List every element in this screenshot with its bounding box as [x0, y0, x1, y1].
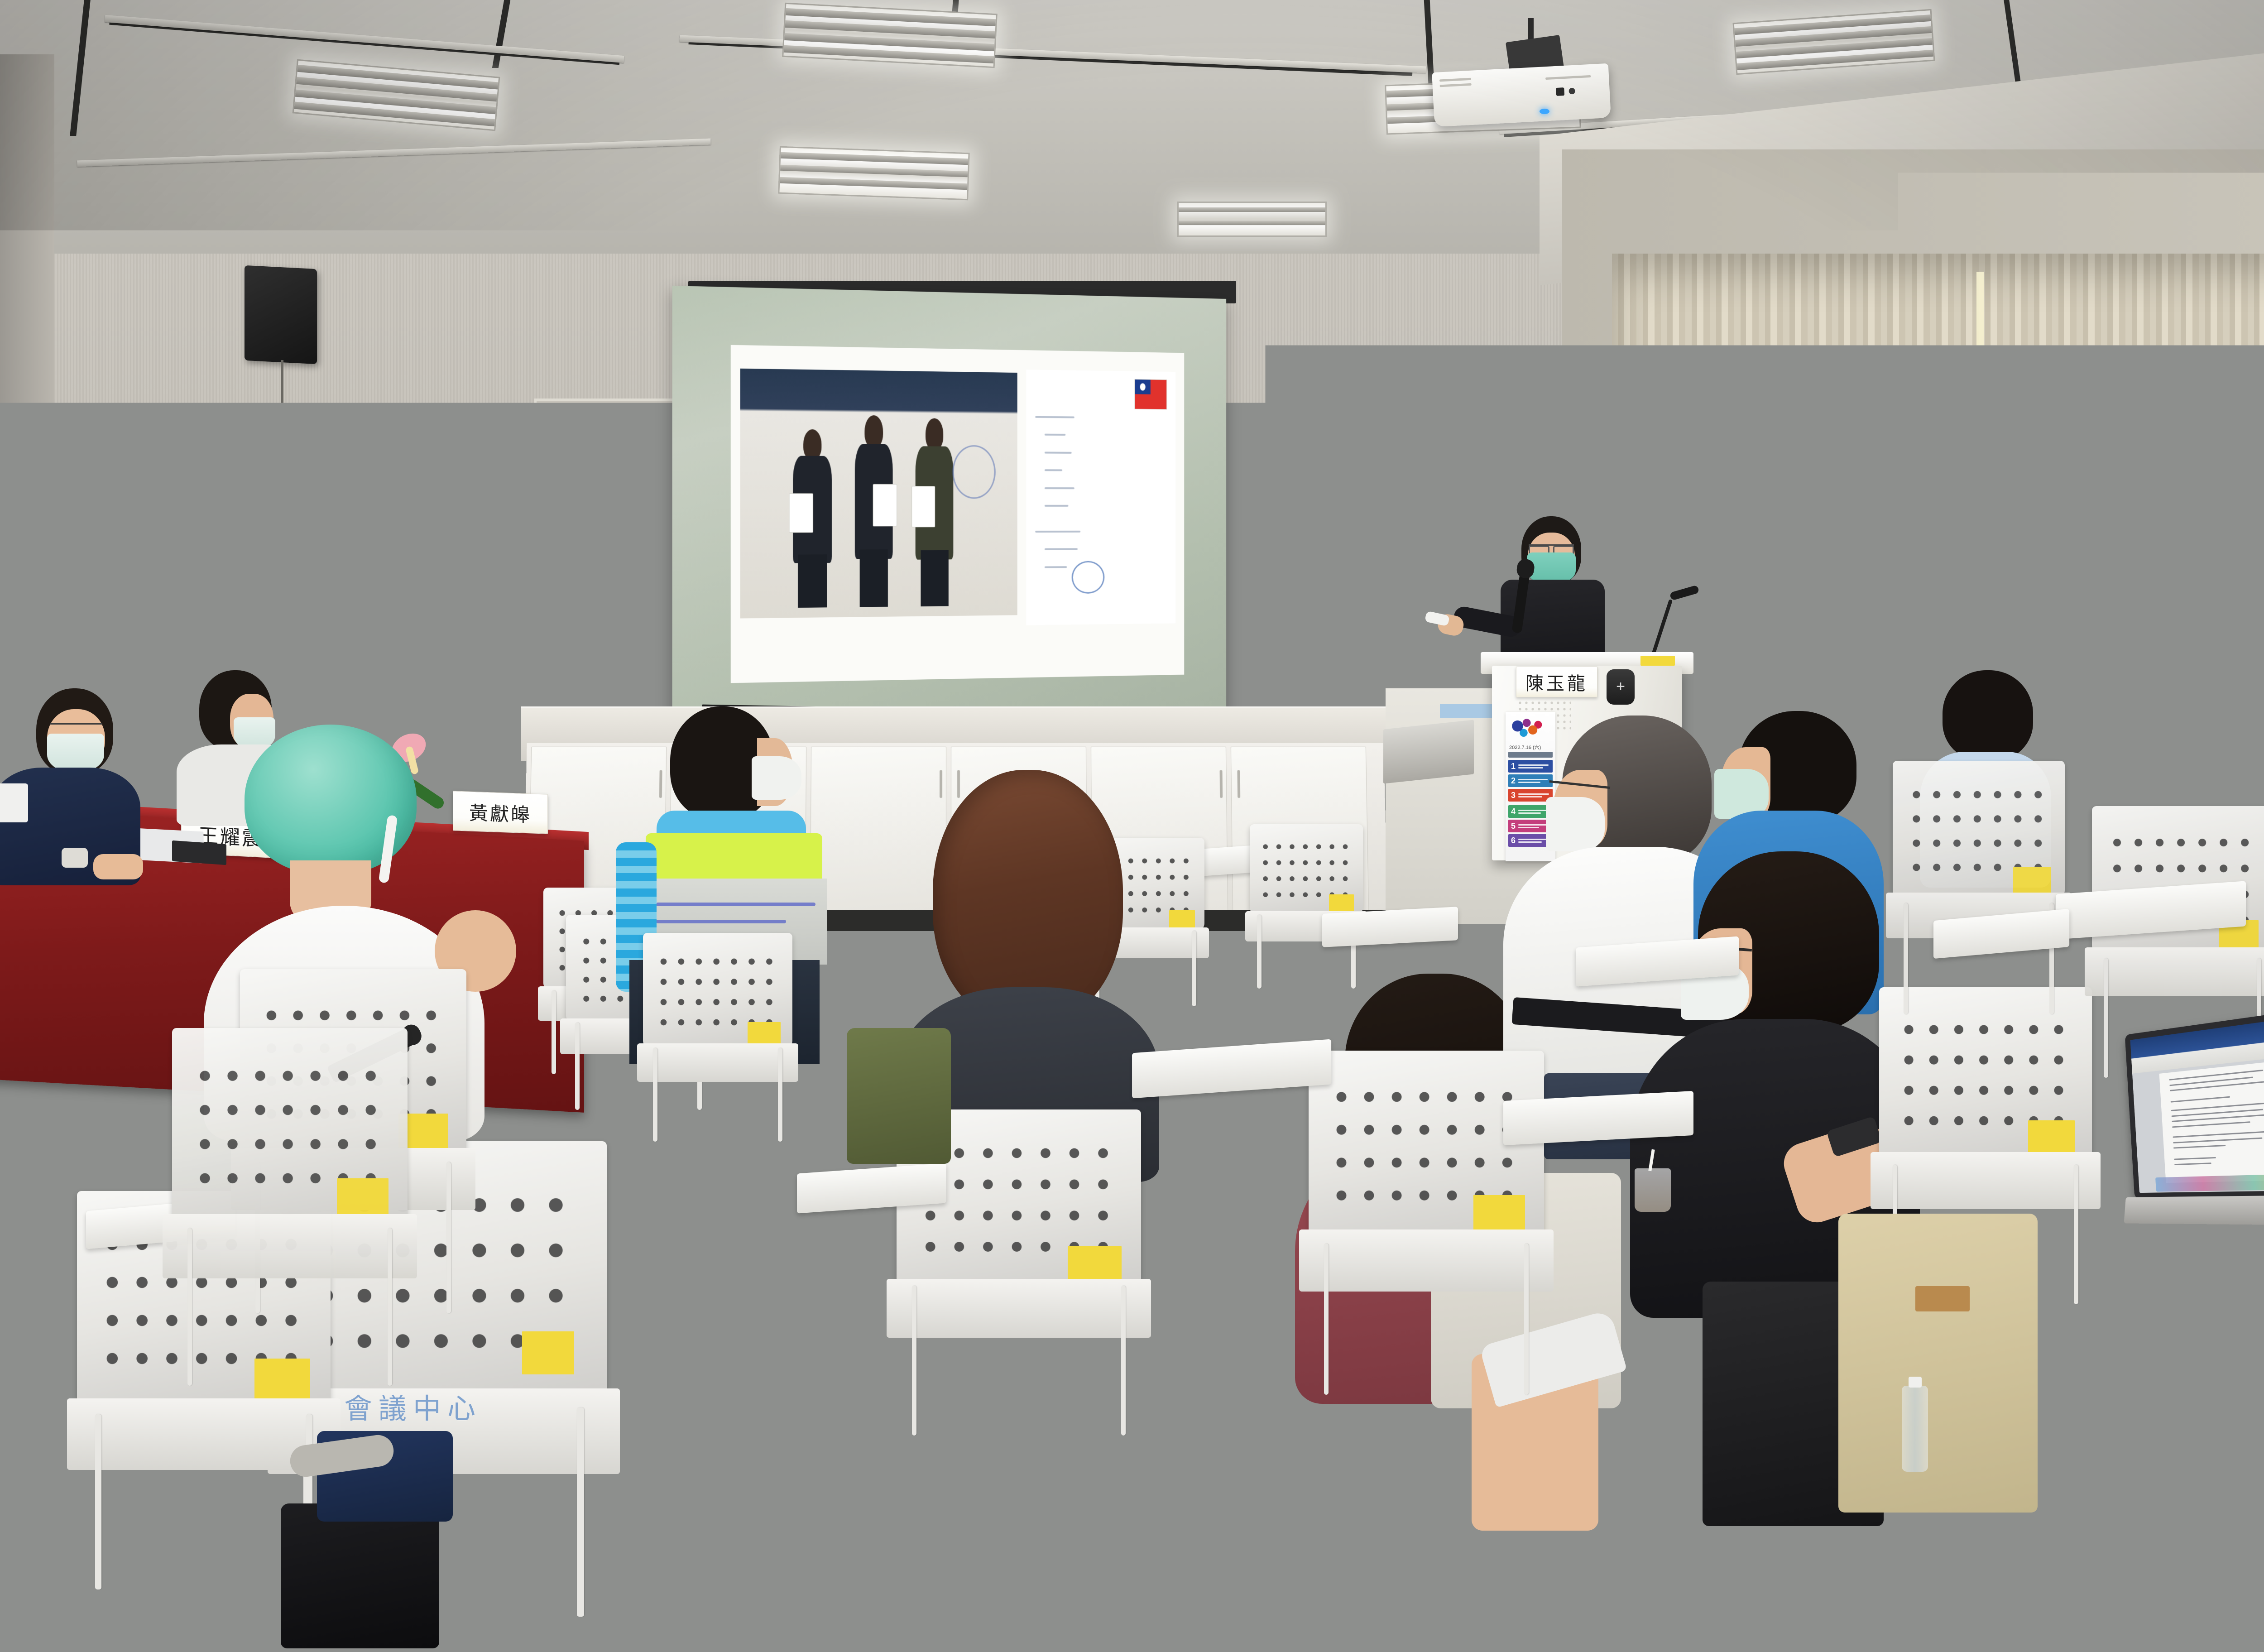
brand-label — [1263, 1336, 1331, 1367]
glasses-icon — [1529, 544, 1574, 552]
hand — [93, 854, 143, 879]
conference-room-scene: 王耀震 黃獻皞 2022.7.16 (六) — [0, 0, 2264, 1652]
shirt-number-graphic — [0, 783, 28, 822]
ceiling-light — [782, 3, 998, 68]
leather-patch — [1915, 1286, 1970, 1311]
vest-hi-vis-yellow — [646, 833, 822, 883]
chair-label-text: 會議中心 — [344, 1386, 534, 1404]
podium-nameplate-text: 陳玉龍 — [1525, 669, 1588, 695]
laptop-macbook[interactable] — [2125, 1007, 2264, 1199]
chair-tablet-arm — [1322, 907, 1458, 947]
official-seal — [1071, 561, 1104, 594]
drink-cup[interactable] — [1635, 1168, 1671, 1212]
hair — [1943, 670, 2033, 761]
chair-seat — [1871, 1152, 2101, 1209]
podium-nameplate: 陳玉龍 — [1516, 667, 1597, 697]
water-bottle[interactable] — [1902, 1386, 1928, 1472]
bluetooth-speaker[interactable]: + — [1607, 669, 1635, 705]
curly-hair — [933, 770, 1123, 1023]
wall-speaker-left — [245, 265, 317, 364]
asset-tag — [522, 1331, 574, 1374]
slide-photo-award-ceremony — [740, 369, 1017, 619]
projector-status-led — [1540, 109, 1549, 114]
chair-seat — [163, 1214, 417, 1278]
speaker-cable — [281, 360, 283, 573]
face-mask-strap — [1050, 1218, 1119, 1295]
green-bottle[interactable] — [2065, 1603, 2151, 1652]
chair-midground[interactable] — [172, 1028, 408, 1386]
slide-award-document — [1026, 370, 1175, 625]
seated-official-left — [9, 688, 145, 879]
bag-on-floor-left[interactable] — [281, 1503, 439, 1648]
ceiling-light — [778, 146, 969, 201]
chair-back-right-2[interactable] — [1893, 761, 2065, 1014]
podium-asset-tag — [1640, 656, 1675, 666]
ceiling-projector — [1432, 63, 1611, 127]
taiwan-flag-icon — [1134, 379, 1167, 410]
wristwatch — [62, 848, 88, 868]
podium-laptop[interactable] — [1383, 720, 1474, 783]
projection-screen — [672, 286, 1226, 733]
water-bottle[interactable] — [1675, 1553, 1706, 1648]
backpack-tan[interactable] — [1838, 1214, 2038, 1513]
chair[interactable] — [643, 933, 792, 1146]
chair[interactable] — [1250, 824, 1363, 992]
face-mask — [752, 756, 801, 800]
chair-backrest — [2205, 1404, 2264, 1541]
chair-seat — [637, 1043, 798, 1082]
ceiling-light — [1177, 202, 1327, 237]
document-page — [2159, 1060, 2264, 1183]
laptop-screen-document — [2130, 1014, 2264, 1193]
chair-seat — [2194, 1536, 2264, 1581]
wall-outlet-plate[interactable] — [435, 693, 461, 710]
glasses-icon — [50, 723, 102, 732]
slide-content — [731, 345, 1185, 683]
chair-bottom-right[interactable] — [2205, 1404, 2264, 1652]
face-mask — [47, 734, 104, 773]
wall-speaker-right — [1463, 379, 1521, 459]
volume-plus-icon[interactable]: + — [1616, 681, 1625, 693]
laptop-keyboard-base[interactable] — [2124, 1195, 2264, 1225]
face-mask — [1546, 797, 1605, 851]
chair-seat — [2085, 947, 2264, 996]
